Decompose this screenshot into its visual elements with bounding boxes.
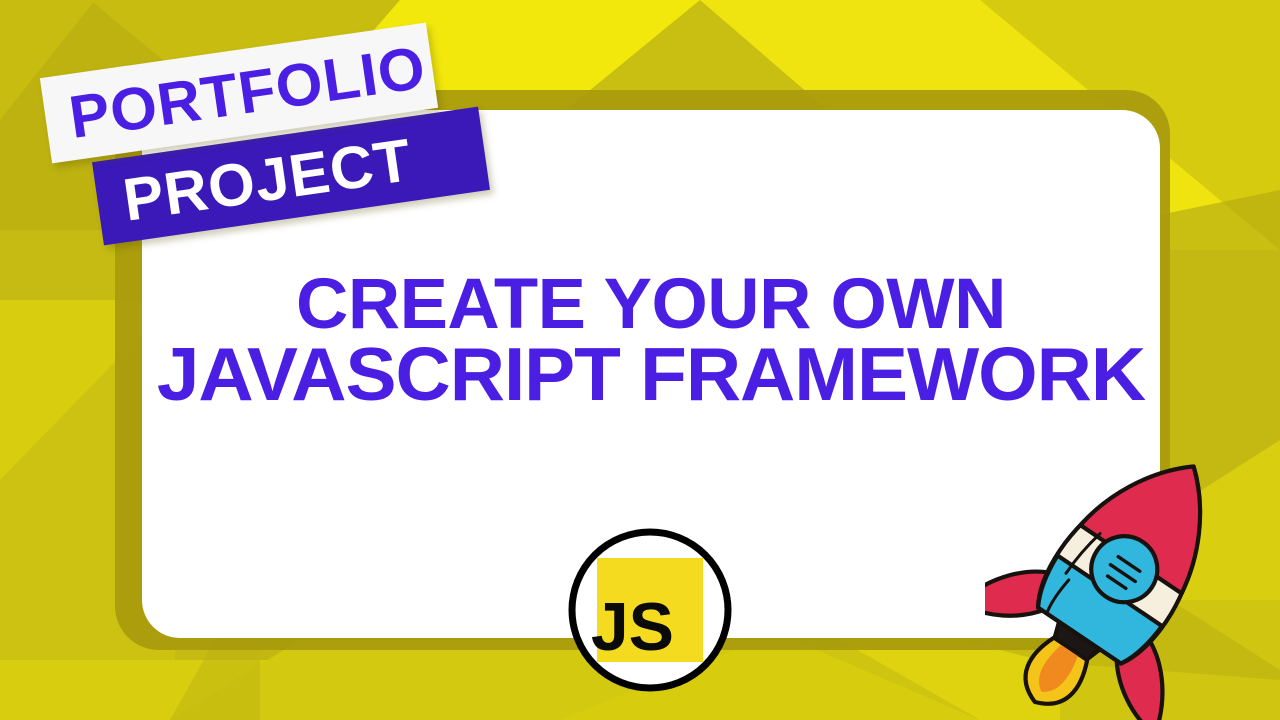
javascript-logo-icon: JS xyxy=(568,528,732,692)
js-logo-label: JS xyxy=(591,589,674,665)
headline-line-2: JAVASCRIPT FRAMEWORK xyxy=(132,339,1170,410)
headline-line-1: CREATE YOUR OWN xyxy=(132,272,1170,339)
thumbnail-canvas: CREATE YOUR OWN JAVASCRIPT FRAMEWORK PRO… xyxy=(0,0,1280,720)
rocket-icon xyxy=(985,435,1250,720)
badge-group: PROJECT PORTFOLIO xyxy=(34,22,464,252)
page-title: CREATE YOUR OWN JAVASCRIPT FRAMEWORK xyxy=(132,272,1170,409)
